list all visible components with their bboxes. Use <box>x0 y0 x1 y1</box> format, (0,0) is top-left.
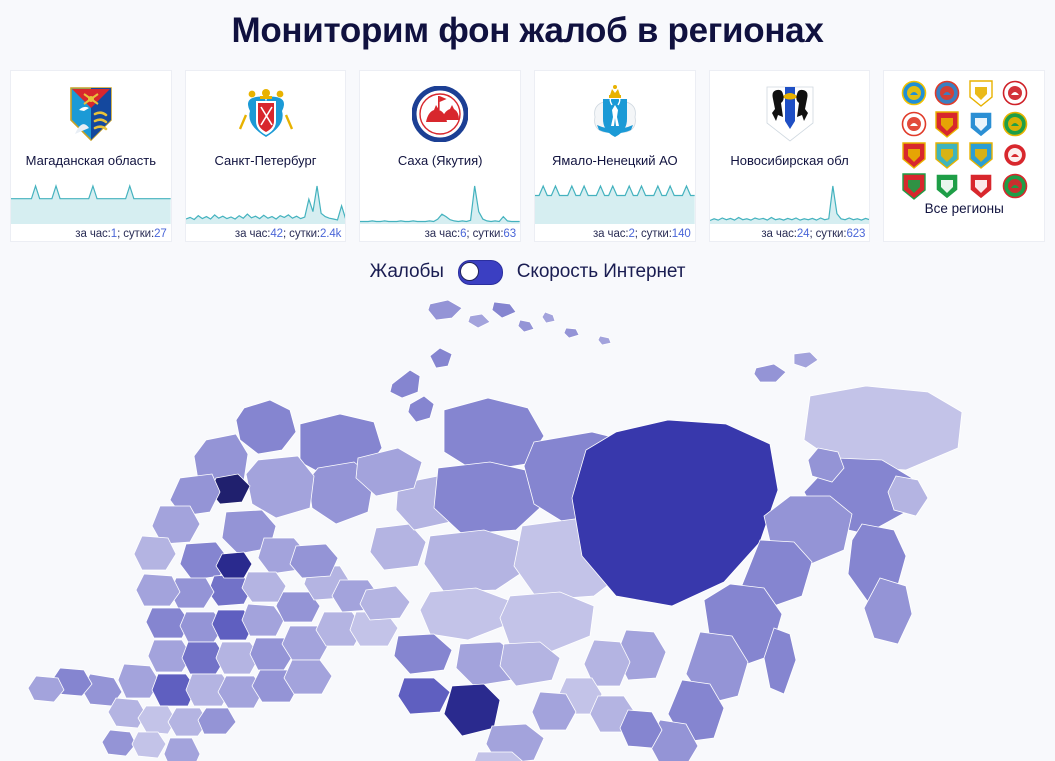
region-card-magadan[interactable]: Магаданская область за час:1; сутки:27 <box>10 70 172 242</box>
stats-hour-label: за час: <box>425 228 461 240</box>
stats-day-value: 623 <box>846 228 865 240</box>
saint-petersburg-coat-of-arms-icon <box>186 71 346 149</box>
belgorod-crest-icon <box>968 141 994 169</box>
stats-day-label: ; сутки: <box>283 228 320 240</box>
map-regions[interactable] <box>28 300 962 761</box>
region-card-label: Саха (Якутия) <box>360 149 520 169</box>
sparkline-sakha-yakutia <box>360 180 520 226</box>
russia-choropleth-map[interactable] <box>0 292 1055 761</box>
region-card-stats: за час:42; сутки:2.4k <box>235 228 341 240</box>
magadan-coat-of-arms-icon <box>11 71 171 149</box>
stats-day-value: 140 <box>672 228 691 240</box>
russia-map-svg[interactable] <box>0 292 1055 761</box>
altai-krai-crest-icon <box>934 79 960 107</box>
page-title: Мониторим фон жалоб в регионах <box>0 0 1055 53</box>
sakha-yakutia-coat-of-arms-icon <box>360 71 520 149</box>
buryatia-crest-icon <box>901 110 927 138</box>
stats-hour-label: за час: <box>761 228 797 240</box>
adygea-crest-icon <box>1002 110 1028 138</box>
toggle-label-complaints: Жалобы <box>370 261 444 283</box>
samara-crest-icon <box>1002 141 1028 169</box>
sparkline-magadan <box>11 180 171 226</box>
stats-day-value: 63 <box>503 228 516 240</box>
all-regions-label: Все регионы <box>884 199 1044 216</box>
stats-day-value: 2.4k <box>320 228 341 240</box>
stats-day-label: ; сутки: <box>466 228 503 240</box>
khanty-mansi-crest-icon <box>901 172 927 200</box>
stats-hour-value: 24 <box>797 228 810 240</box>
kurgan-crest-icon <box>934 172 960 200</box>
region-card-stats: за час:24; сутки:623 <box>761 228 865 240</box>
region-card-all-regions[interactable]: Все регионы <box>883 70 1045 242</box>
region-card-yamalo-nenets[interactable]: Ямало-Ненецкий АО за час:2; сутки:140 <box>534 70 696 242</box>
stats-day-label: ; сутки: <box>117 228 154 240</box>
region-card-label: Новосибирская обл <box>710 149 870 169</box>
sparkline-novosibirsk <box>710 180 870 226</box>
tatarstan-crest-icon <box>1002 172 1028 200</box>
region-card-label: Магаданская область <box>11 149 171 169</box>
region-card-stats: за час:2; сутки:140 <box>593 228 691 240</box>
stats-hour-label: за час: <box>75 228 111 240</box>
stats-day-value: 27 <box>154 228 167 240</box>
stats-hour-label: за час: <box>593 228 629 240</box>
udmurtia-crest-icon <box>1002 79 1028 107</box>
region-card-stats: за час:6; сутки:63 <box>425 228 516 240</box>
sparkline-yamalo-nenets <box>535 180 695 226</box>
region-card-sakha-yakutia[interactable]: Саха (Якутия) за час:6; сутки:63 <box>359 70 521 242</box>
ryazan-crest-icon <box>901 141 927 169</box>
sparkline-saint-petersburg <box>186 180 346 226</box>
region-card-label: Ямало-Ненецкий АО <box>535 149 695 169</box>
region-card-saint-petersburg[interactable]: Санкт-Петербург за час:42; сутки:2.4k <box>185 70 347 242</box>
novosibirsk-coat-of-arms-icon <box>710 71 870 149</box>
yamalo-nenets-coat-of-arms-icon <box>535 71 695 149</box>
region-card-label: Санкт-Петербург <box>186 149 346 169</box>
region-card-stats: за час:1; сутки:27 <box>75 228 166 240</box>
stats-day-label: ; сутки: <box>635 228 672 240</box>
toggle-label-internet-speed: Скорость Интернет <box>517 261 686 283</box>
stats-day-label: ; сутки: <box>809 228 846 240</box>
tver-crest-icon <box>934 110 960 138</box>
toggle-knob <box>460 262 479 281</box>
region-card-novosibirsk[interactable]: Новосибирская обл за час:24; сутки:623 <box>709 70 871 242</box>
pskov-crest-icon <box>968 172 994 200</box>
vologda-crest-icon <box>968 79 994 107</box>
mode-toggle-switch[interactable] <box>458 260 503 285</box>
stats-hour-value: 42 <box>270 228 283 240</box>
kamchatka-crest-icon <box>968 110 994 138</box>
khakass-green-crest-icon <box>934 141 960 169</box>
stats-hour-label: за час: <box>235 228 271 240</box>
mode-toggle-row: Жалобы Скорость Интернет <box>0 255 1055 289</box>
khakassia-crest-icon <box>901 79 927 107</box>
all-regions-crest-grid <box>884 71 1044 199</box>
region-cards-strip: Магаданская область за час:1; сутки:27 <box>10 70 1045 242</box>
